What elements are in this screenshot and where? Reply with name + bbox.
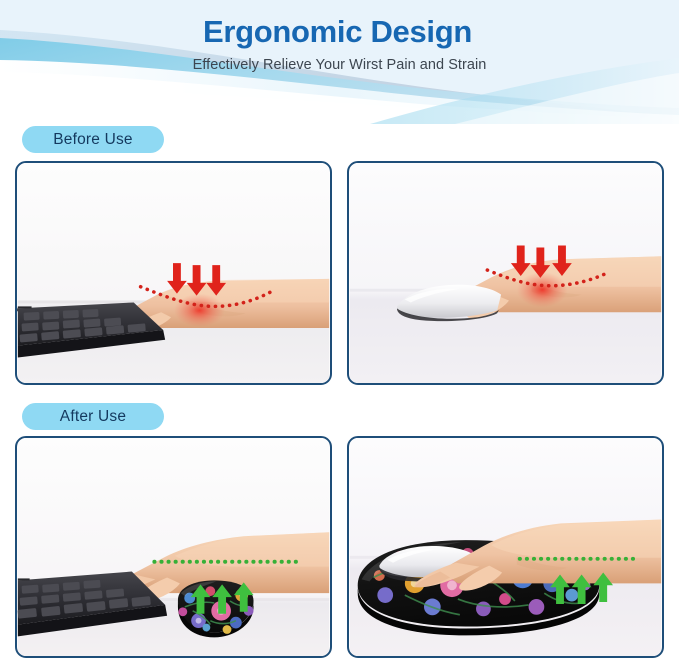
support-arrows-up xyxy=(550,573,613,604)
header-banner: Ergonomic Design Effectively Relieve You… xyxy=(0,0,679,124)
pain-glow-indicator xyxy=(517,272,568,307)
scene-after-mouse xyxy=(349,438,662,656)
page-title: Ergonomic Design xyxy=(0,14,679,50)
scene-before-keyboard xyxy=(17,163,330,383)
panel-after-mouse xyxy=(347,436,664,658)
panel-before-keyboard xyxy=(15,161,332,385)
page-subtitle: Effectively Relieve Your Wirst Pain and … xyxy=(0,50,679,73)
pressure-arrows-down xyxy=(511,246,572,278)
section-badge-after-use: After Use xyxy=(22,403,164,430)
pressure-arrows-down xyxy=(167,263,226,295)
section-badge-before-use: Before Use xyxy=(22,126,164,153)
scene-after-keyboard xyxy=(17,438,330,656)
support-arrows-up xyxy=(191,582,254,613)
scene-before-mouse xyxy=(349,163,662,383)
panel-after-keyboard xyxy=(15,436,332,658)
panel-before-mouse xyxy=(347,161,664,385)
pain-glow-indicator xyxy=(174,294,225,327)
